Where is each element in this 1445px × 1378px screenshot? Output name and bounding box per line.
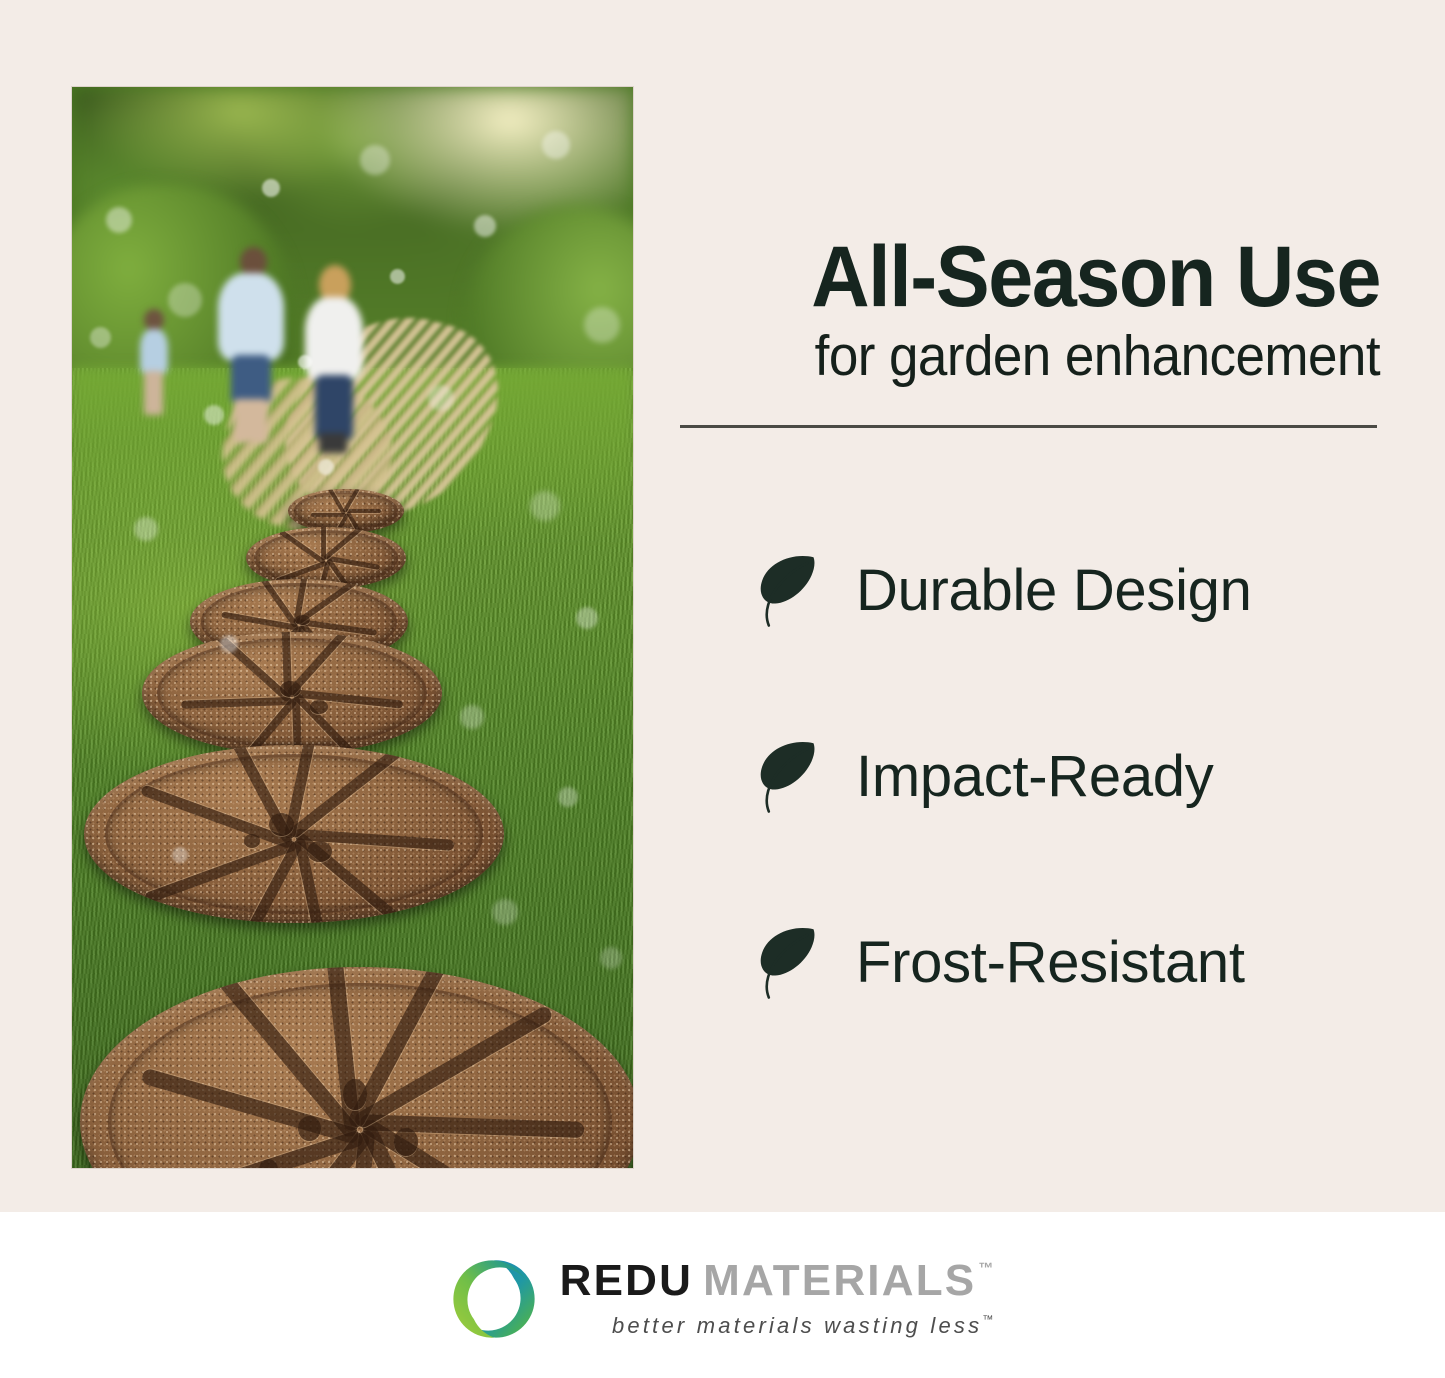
feature-list: Durable Design Impact-Ready [680, 498, 1380, 1056]
hero-panel: All-Season Use for garden enhancement Du… [0, 0, 1445, 1212]
trademark-symbol: ™ [978, 1261, 993, 1276]
brand-logo: REDU MATERIALS ™ better materials wastin… [452, 1257, 994, 1341]
feature-label: Frost-Resistant [856, 934, 1245, 992]
feature-item: Impact-Ready [680, 684, 1380, 870]
page-title: All-Season Use [722, 87, 1380, 319]
page-subtitle: for garden enhancement [729, 325, 1380, 389]
photo-bokeh-particles [72, 87, 633, 1168]
tagline-trademark-symbol: ™ [982, 1314, 993, 1326]
leaf-icon [748, 554, 822, 628]
tagline-text: better materials wasting less [612, 1313, 982, 1339]
brand-primary: REDU [560, 1259, 693, 1303]
feature-label: Impact-Ready [856, 748, 1213, 806]
text-column: All-Season Use for garden enhancement Du… [680, 87, 1380, 1056]
circular-swirl-icon [452, 1257, 536, 1341]
brand-secondary: MATERIALS [703, 1259, 976, 1303]
leaf-icon [748, 926, 822, 1000]
logo-wordmark-group: REDU MATERIALS ™ better materials wastin… [560, 1259, 994, 1339]
divider [680, 425, 1377, 428]
product-photo [72, 87, 633, 1168]
brand-tagline: better materials wasting less ™ [612, 1313, 993, 1339]
logo-bar: REDU MATERIALS ™ better materials wastin… [0, 1212, 1445, 1378]
wordmark: REDU MATERIALS ™ [560, 1259, 994, 1303]
leaf-icon [748, 740, 822, 814]
feature-item: Frost-Resistant [680, 870, 1380, 1056]
feature-label: Durable Design [856, 562, 1252, 620]
feature-item: Durable Design [680, 498, 1380, 684]
